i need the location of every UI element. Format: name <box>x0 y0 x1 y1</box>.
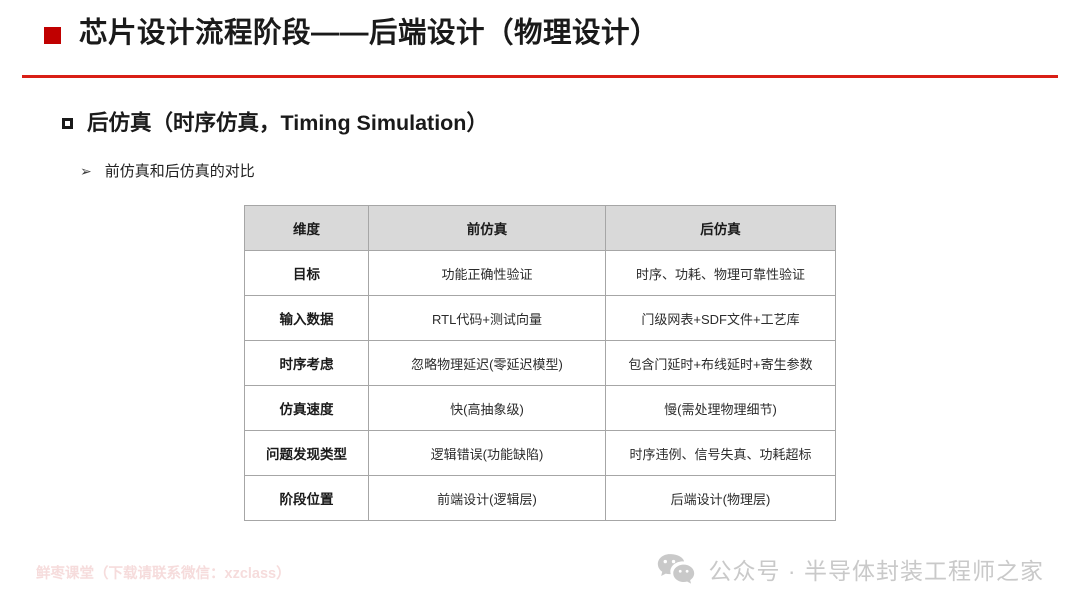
slide-title-text: 芯片设计流程阶段——后端设计（物理设计） <box>79 18 659 49</box>
sub-heading: 后仿真（时序仿真，Timing Simulation） <box>62 106 488 137</box>
sub-heading-text: 后仿真（时序仿真，Timing Simulation） <box>87 106 488 137</box>
wechat-icon <box>657 553 695 585</box>
cell-pre-sim: 忽略物理延迟(零延迟模型) <box>369 341 606 386</box>
cell-dimension: 阶段位置 <box>245 476 369 521</box>
footer-right-label: 公众号 · 半导体封装工程师之家 <box>709 552 1044 586</box>
table-row: 输入数据 RTL代码+测试向量 门级网表+SDF文件+工艺库 <box>245 296 836 341</box>
table-header-row: 维度 前仿真 后仿真 <box>245 206 836 251</box>
cell-pre-sim: RTL代码+测试向量 <box>369 296 606 341</box>
cell-dimension: 时序考虑 <box>245 341 369 386</box>
cell-dimension: 输入数据 <box>245 296 369 341</box>
footer-watermark-left: 鲜枣课堂（下载请联系微信：xzclass） <box>36 562 291 583</box>
cell-post-sim: 门级网表+SDF文件+工艺库 <box>606 296 836 341</box>
cell-pre-sim: 快(高抽象级) <box>369 386 606 431</box>
comparison-table: 维度 前仿真 后仿真 目标 功能正确性验证 时序、功耗、物理可靠性验证 输入数据… <box>244 205 836 521</box>
cell-dimension: 仿真速度 <box>245 386 369 431</box>
table-row: 阶段位置 前端设计(逻辑层) 后端设计(物理层) <box>245 476 836 521</box>
table-row: 问题发现类型 逻辑错误(功能缺陷) 时序违例、信号失真、功耗超标 <box>245 431 836 476</box>
column-header-dimension: 维度 <box>245 206 369 251</box>
table-row: 时序考虑 忽略物理延迟(零延迟模型) 包含门延时+布线延时+寄生参数 <box>245 341 836 386</box>
cell-dimension: 目标 <box>245 251 369 296</box>
cell-dimension: 问题发现类型 <box>245 431 369 476</box>
cell-pre-sim: 功能正确性验证 <box>369 251 606 296</box>
hollow-square-bullet-icon <box>62 118 73 129</box>
cell-pre-sim: 前端设计(逻辑层) <box>369 476 606 521</box>
cell-post-sim: 时序违例、信号失真、功耗超标 <box>606 431 836 476</box>
cell-post-sim: 后端设计(物理层) <box>606 476 836 521</box>
cell-pre-sim: 逻辑错误(功能缺陷) <box>369 431 606 476</box>
table-row: 仿真速度 快(高抽象级) 慢(需处理物理细节) <box>245 386 836 431</box>
cell-post-sim: 慢(需处理物理细节) <box>606 386 836 431</box>
list-item-label: 前仿真和后仿真的对比 <box>105 160 255 181</box>
cell-post-sim: 包含门延时+布线延时+寄生参数 <box>606 341 836 386</box>
list-item: ➢ 前仿真和后仿真的对比 <box>80 160 255 181</box>
page-title: 芯片设计流程阶段——后端设计（物理设计） <box>44 18 659 49</box>
column-header-post-sim: 后仿真 <box>606 206 836 251</box>
cell-post-sim: 时序、功耗、物理可靠性验证 <box>606 251 836 296</box>
title-divider <box>22 75 1058 78</box>
table-row: 目标 功能正确性验证 时序、功耗、物理可靠性验证 <box>245 251 836 296</box>
footer-watermark-right: 公众号 · 半导体封装工程师之家 <box>657 552 1044 586</box>
column-header-pre-sim: 前仿真 <box>369 206 606 251</box>
arrow-bullet-icon: ➢ <box>80 164 92 178</box>
title-bullet-square-icon <box>44 27 61 44</box>
